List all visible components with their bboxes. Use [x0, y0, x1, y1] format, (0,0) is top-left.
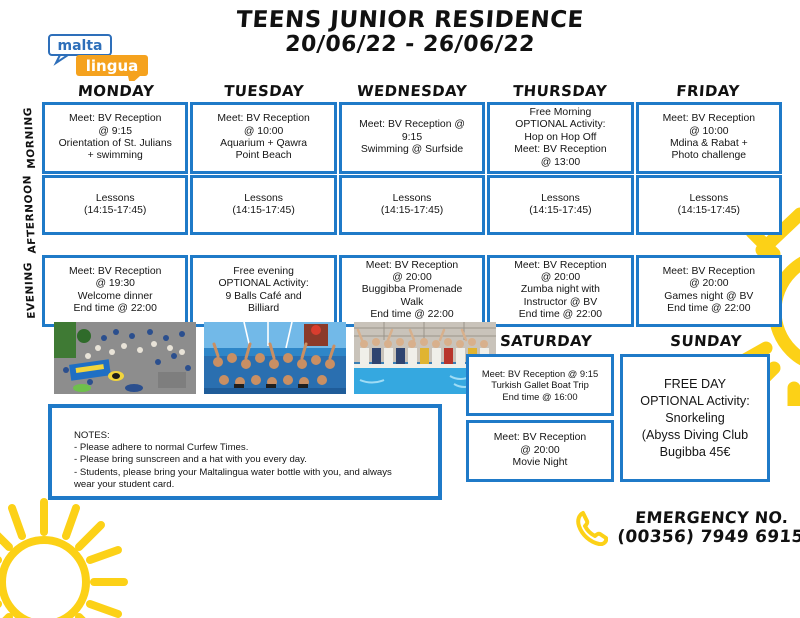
cell-text: Meet: BV Reception @ 19:30 Welcome dinne… — [69, 266, 161, 316]
emergency-contact: EMERGENCY NO. (00356) 7949 6915 — [576, 508, 800, 547]
row-label-afternoon: AFTERNOON — [18, 175, 42, 254]
schedule-row-afternoon: AFTERNOON Lessons (14:15-17:45) Lessons … — [18, 175, 782, 254]
cell-text: Lessons (14:15-17:45) — [381, 193, 443, 218]
cell-tuesday-evening[interactable]: Free evening OPTIONAL Activity: 9 Balls … — [190, 255, 336, 327]
day-header-thursday: THURSDAY — [485, 82, 634, 100]
cell-text: Free Morning OPTIONAL Activity: Hop on H… — [514, 107, 606, 169]
title-line-2: 20/06/22 - 26/06/22 — [229, 33, 591, 57]
schedule-row-evening: EVENING Meet: BV Reception @ 19:30 Welco… — [18, 255, 782, 327]
row-label-evening: EVENING — [18, 255, 42, 327]
phone-icon — [576, 510, 608, 546]
cell-text: Meet: BV Reception @ 20:00 Buggibba Prom… — [362, 260, 463, 322]
cell-text: Meet: BV Reception @ 20:00 Movie Night — [494, 432, 586, 470]
cell-thursday-evening[interactable]: Meet: BV Reception @ 20:00 Zumba night w… — [487, 255, 633, 327]
photo-aerial-group — [54, 322, 196, 394]
cell-wednesday-morning[interactable]: Meet: BV Reception @ 9:15 Swimming @ Sur… — [339, 102, 485, 174]
cell-monday-morning[interactable]: Meet: BV Reception @ 9:15 Orientation of… — [42, 102, 188, 174]
cell-thursday-afternoon[interactable]: Lessons (14:15-17:45) — [487, 175, 633, 235]
cell-friday-afternoon[interactable]: Lessons (14:15-17:45) — [636, 175, 782, 235]
cell-text: Meet: BV Reception @ 10:00 Mdina & Rabat… — [663, 113, 755, 163]
cell-text: Free evening OPTIONAL Activity: 9 Balls … — [218, 266, 308, 316]
day-header-friday: FRIDAY — [633, 82, 782, 100]
cell-text: Meet: BV Reception @ 9:15 Orientation of… — [59, 113, 172, 163]
schedule-row-morning: MORNING Meet: BV Reception @ 9:15 Orient… — [18, 102, 782, 174]
weekend-header-row: SATURDAY SUNDAY — [466, 332, 786, 350]
poster-title: TEENS JUNIOR RESIDENCE 20/06/22 - 26/06/… — [230, 8, 590, 57]
cell-text: Lessons (14:15-17:45) — [232, 193, 294, 218]
row-label-morning: MORNING — [18, 102, 42, 174]
notes-text: NOTES: - Please adhere to normal Curfew … — [74, 430, 438, 491]
cell-text: Meet: BV Reception @ 10:00 Aquarium + Qa… — [217, 113, 309, 163]
day-header-saturday: SATURDAY — [465, 332, 626, 350]
day-header-row: MONDAY TUESDAY WEDNESDAY THURSDAY FRIDAY — [42, 82, 782, 100]
cell-text: Meet: BV Reception @ 20:00 Games night @… — [663, 266, 755, 316]
saturday-column: Meet: BV Reception @ 9:15 Turkish Gallet… — [466, 354, 614, 482]
cell-friday-morning[interactable]: Meet: BV Reception @ 10:00 Mdina & Rabat… — [636, 102, 782, 174]
photo-boat-trip-group — [204, 322, 346, 394]
cell-tuesday-morning[interactable]: Meet: BV Reception @ 10:00 Aquarium + Qa… — [190, 102, 336, 174]
emergency-text-block: EMERGENCY NO. (00356) 7949 6915 — [617, 508, 800, 547]
cell-friday-evening[interactable]: Meet: BV Reception @ 20:00 Games night @… — [636, 255, 782, 327]
emergency-label: EMERGENCY NO. — [618, 508, 800, 527]
cell-saturday-evening[interactable]: Meet: BV Reception @ 20:00 Movie Night — [466, 420, 614, 482]
svg-text:malta: malta — [58, 38, 103, 54]
schedule-poster: malta lingua TEENS JUNIOR RESIDENCE 20/0… — [0, 0, 800, 618]
cell-text: Meet: BV Reception @ 20:00 Zumba night w… — [514, 260, 606, 322]
cell-monday-evening[interactable]: Meet: BV Reception @ 19:30 Welcome dinne… — [42, 255, 188, 327]
day-header-tuesday: TUESDAY — [189, 82, 338, 100]
notes-box: NOTES: - Please adhere to normal Curfew … — [48, 404, 442, 500]
weekday-schedule: MONDAY TUESDAY WEDNESDAY THURSDAY FRIDAY… — [18, 82, 782, 328]
svg-text:lingua: lingua — [86, 57, 139, 75]
day-header-monday: MONDAY — [41, 82, 190, 100]
title-line-1: TEENS JUNIOR RESIDENCE — [229, 8, 591, 33]
day-header-wednesday: WEDNESDAY — [337, 82, 486, 100]
maltalingua-logo: malta lingua — [46, 33, 158, 81]
cell-wednesday-evening[interactable]: Meet: BV Reception @ 20:00 Buggibba Prom… — [339, 255, 485, 327]
cell-sunday-freeday[interactable]: FREE DAY OPTIONAL Activity: Snorkeling (… — [620, 354, 770, 482]
photo-strip — [54, 322, 496, 394]
row-label-afternoon-text: AFTERNOON — [21, 175, 38, 254]
sunday-column: FREE DAY OPTIONAL Activity: Snorkeling (… — [620, 354, 770, 482]
cell-thursday-morning[interactable]: Free Morning OPTIONAL Activity: Hop on H… — [487, 102, 633, 174]
cell-text: Lessons (14:15-17:45) — [678, 193, 740, 218]
day-header-sunday: SUNDAY — [625, 332, 786, 350]
cell-text: FREE DAY OPTIONAL Activity: Snorkeling (… — [640, 376, 749, 461]
cell-tuesday-afternoon[interactable]: Lessons (14:15-17:45) — [190, 175, 336, 235]
cell-text: Meet: BV Reception @ 9:15 Turkish Gallet… — [482, 368, 598, 403]
weekend-schedule: SATURDAY SUNDAY Meet: BV Reception @ 9:1… — [466, 332, 786, 482]
cell-text: Lessons (14:15-17:45) — [529, 193, 591, 218]
row-label-evening-text: EVENING — [22, 262, 38, 319]
cell-saturday-day[interactable]: Meet: BV Reception @ 9:15 Turkish Gallet… — [466, 354, 614, 416]
cell-text: Lessons (14:15-17:45) — [84, 193, 146, 218]
sun-decoration-bottom-left — [0, 492, 134, 618]
emergency-number: (00356) 7949 6915 — [617, 527, 800, 547]
cell-text: Meet: BV Reception @ 9:15 Swimming @ Sur… — [359, 119, 465, 156]
cell-monday-afternoon[interactable]: Lessons (14:15-17:45) — [42, 175, 188, 235]
row-label-morning-text: MORNING — [22, 107, 38, 169]
cell-wednesday-afternoon[interactable]: Lessons (14:15-17:45) — [339, 175, 485, 235]
